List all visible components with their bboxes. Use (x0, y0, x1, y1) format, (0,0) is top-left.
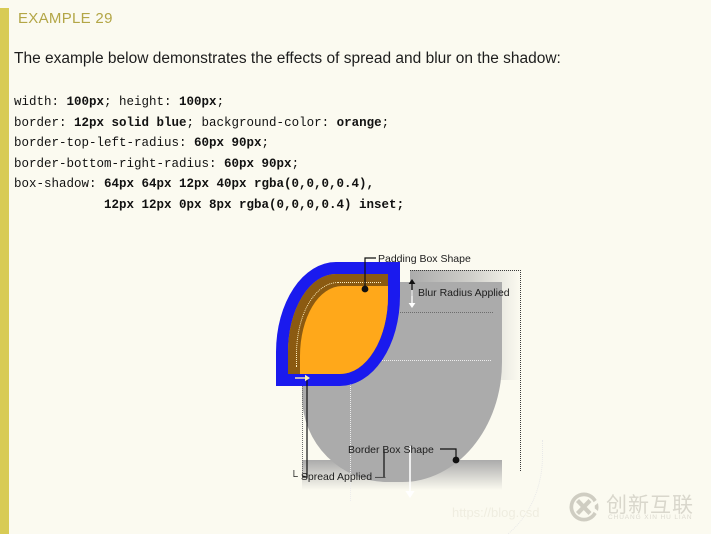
code-line-2: border: 12px solid blue; background-colo… (14, 116, 389, 130)
page-root: EXAMPLE 29 The example below demonstrate… (0, 0, 711, 534)
label-border-box-shape: Border Box Shape (348, 444, 434, 456)
watermark-logo-pinyin: CHUANG XIN HU LIAN (608, 514, 692, 521)
left-accent-bar-cap (0, 0, 9, 8)
code-line-4: border-bottom-right-radius: 60px 90px; (14, 157, 299, 171)
box-shadow-diagram: Padding Box Shape Blur Radius Applied Bo… (260, 240, 560, 530)
label-spread-applied: └ Spread Applied — (290, 471, 386, 483)
code-line-3: border-top-left-radius: 60px 90px; (14, 136, 269, 150)
label-blur-radius-applied: Blur Radius Applied (418, 287, 510, 299)
watermark-logo: 创新互联 CHUANG XIN HU LIAN (568, 489, 708, 527)
label-padding-box-shape: Padding Box Shape (378, 253, 471, 265)
code-block: width: 100px; height: 100px; border: 12p… (14, 92, 404, 215)
page-title: EXAMPLE 29 (18, 10, 113, 27)
code-line-6: 12px 12px 0px 8px rgba(0,0,0,0.4) inset; (14, 198, 404, 212)
cx-logo-icon (568, 491, 600, 523)
watermark-url: https://blog.csd (452, 505, 539, 520)
code-line-5: box-shadow: 64px 64px 12px 40px rgba(0,0… (14, 177, 374, 191)
inset-shadow-region (288, 274, 388, 374)
code-line-1: width: 100px; height: 100px; (14, 95, 224, 109)
left-accent-bar (0, 0, 9, 534)
inset-shadow-guide (296, 282, 381, 367)
intro-text: The example below demonstrates the effec… (14, 50, 561, 68)
